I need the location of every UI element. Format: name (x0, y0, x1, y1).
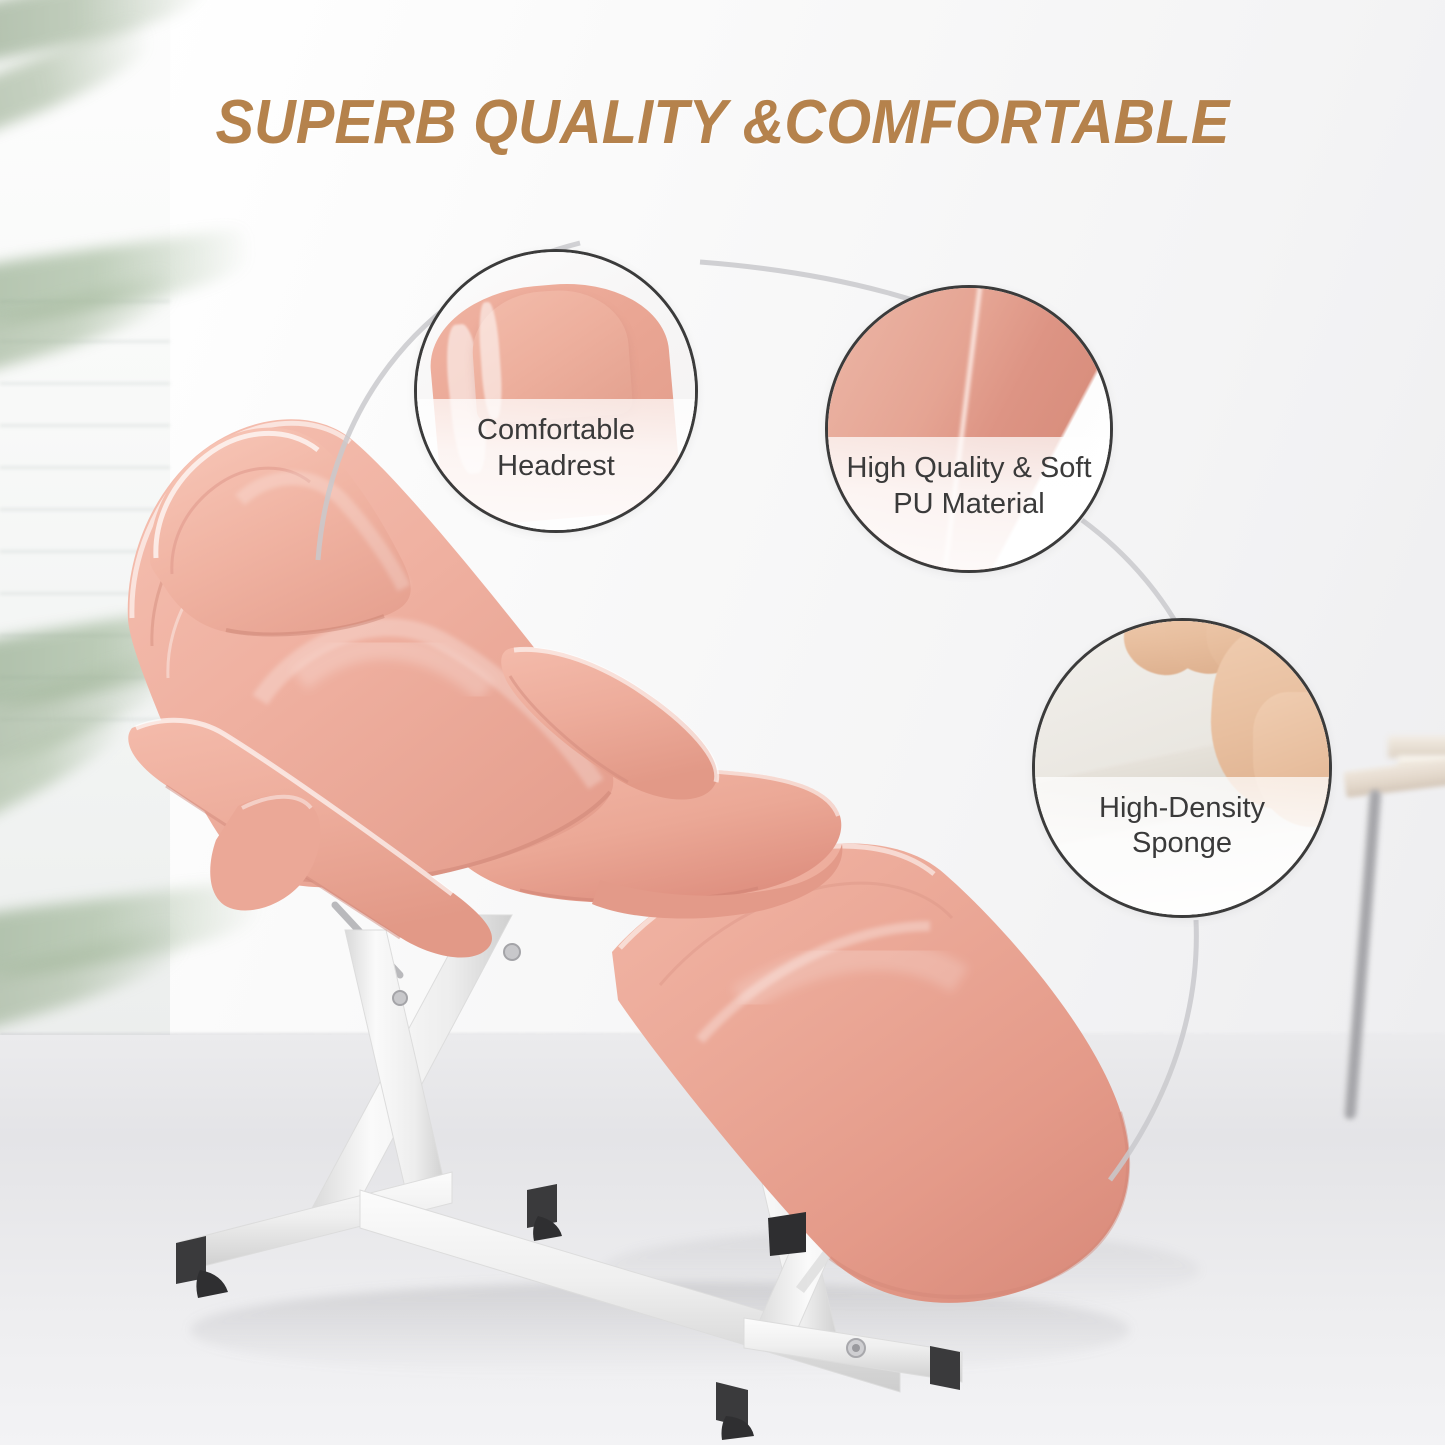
callout-comfortable-headrest: Comfortable Headrest (414, 249, 698, 533)
callout-line-1: Comfortable (477, 413, 635, 448)
callout-line-2: PU Material (893, 487, 1045, 522)
callout-line-1: High Quality & Soft (847, 451, 1092, 486)
callout-line-1: High-Density (1099, 791, 1265, 826)
callout-caption: Comfortable Headrest (417, 399, 695, 530)
callout-line-2: Sponge (1132, 826, 1232, 861)
callout-high-density-sponge: High-Density Sponge (1032, 618, 1332, 918)
callout-caption: High Quality & Soft PU Material (828, 437, 1110, 570)
callout-caption: High-Density Sponge (1035, 777, 1329, 915)
callout-line-2: Headrest (497, 449, 615, 484)
product-marketing-image: Comfortable Headrest High Quality & Soft… (0, 0, 1445, 1445)
callout-high-quality-soft-pu-material: High Quality & Soft PU Material (825, 285, 1113, 573)
page-title: SUPERB QUALITY &COMFORTABLE (51, 92, 1395, 154)
